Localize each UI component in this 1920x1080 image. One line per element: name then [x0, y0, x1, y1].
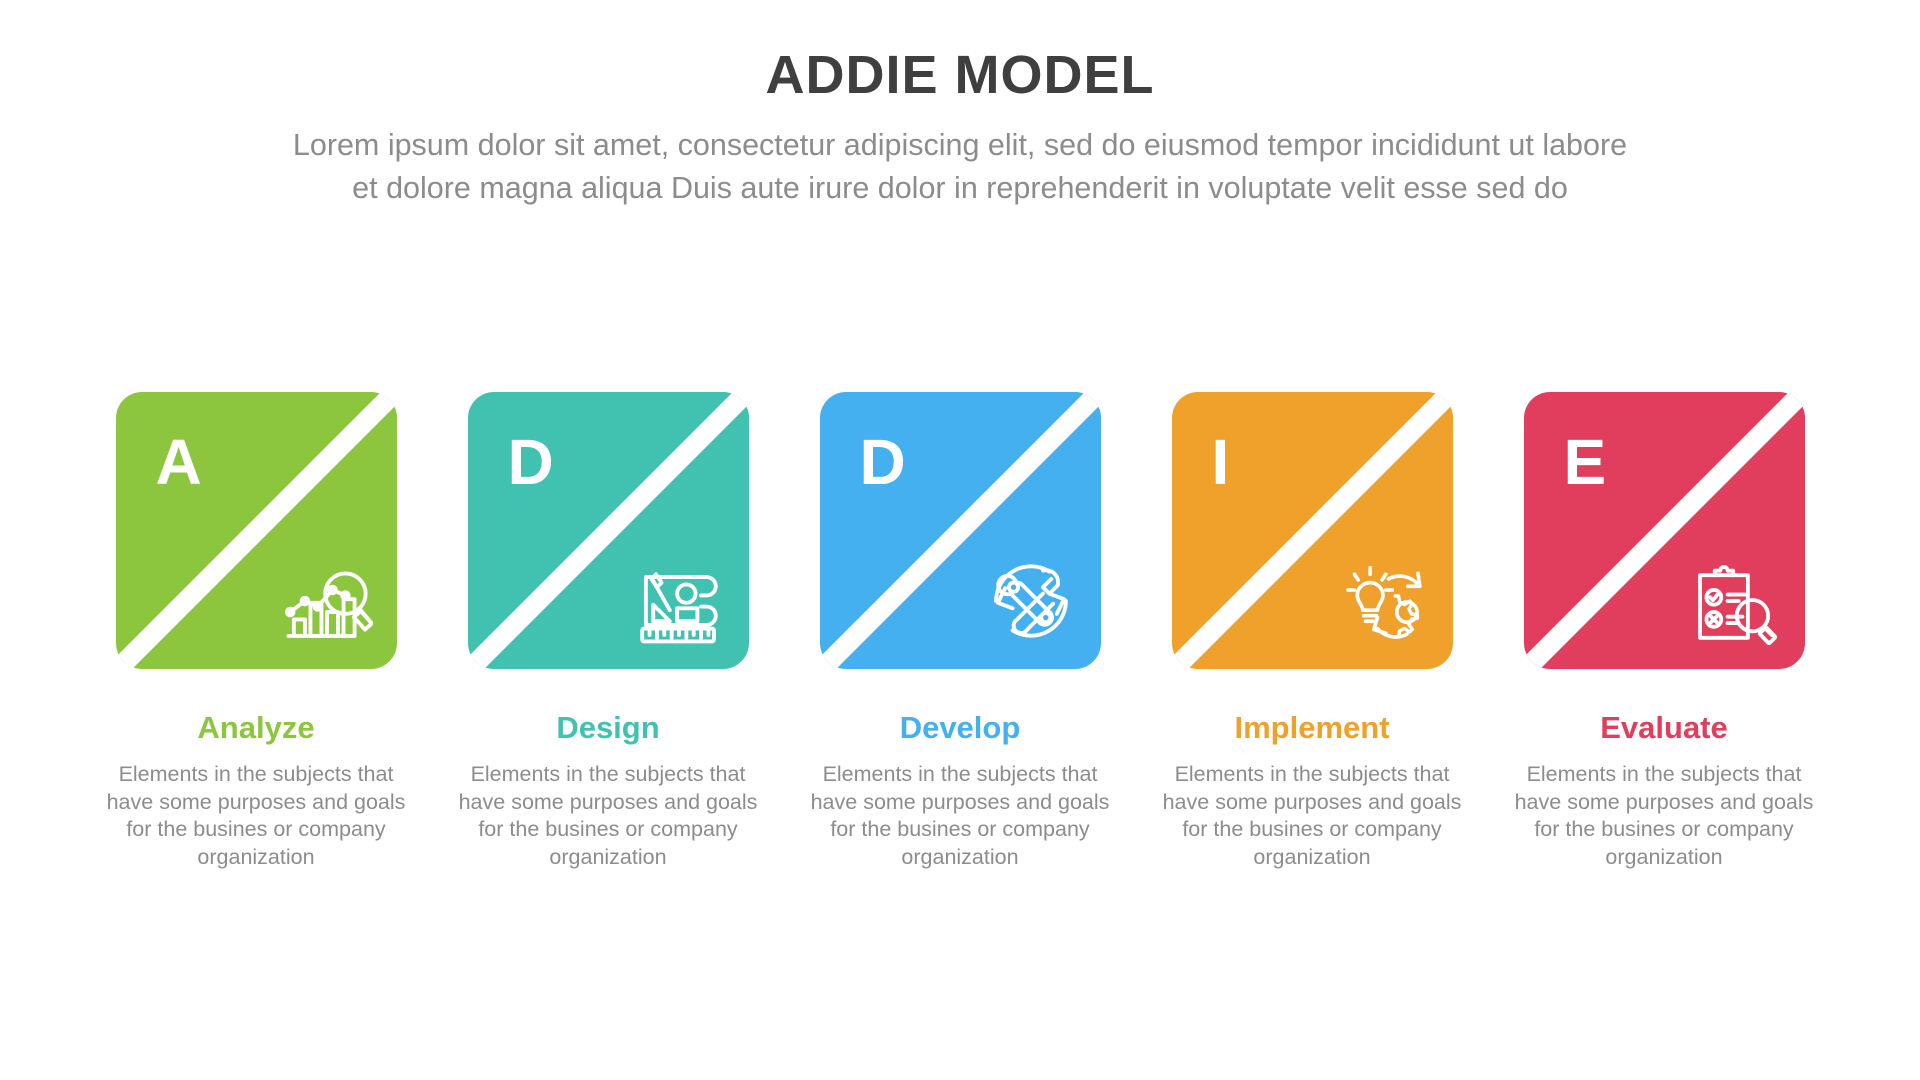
step-letter: D: [508, 430, 554, 494]
subtitle-line-1: Lorem ipsum dolor sit amet, consectetur …: [70, 124, 1850, 167]
page-subtitle: Lorem ipsum dolor sit amet, consectetur …: [70, 124, 1850, 211]
step-letter: A: [156, 430, 202, 494]
step-card-develop[interactable]: D: [820, 392, 1101, 669]
steps-row: A: [80, 392, 1840, 871]
subtitle-line-2: et dolore magna aliqua Duis aute irure d…: [70, 167, 1850, 210]
step-description-analyze: Elements in the subjects that have some …: [106, 761, 406, 871]
step-column-analyze: A: [80, 392, 432, 871]
step-label-develop: Develop: [900, 711, 1021, 745]
bar-chart-magnifier-icon: [281, 555, 373, 647]
clipboard-checklist-magnifier-icon: [1689, 555, 1781, 647]
step-label-design: Design: [556, 711, 659, 745]
step-column-evaluate: E: [1488, 392, 1840, 871]
wrench-screwdriver-cycle-icon: [985, 555, 1077, 647]
step-description-design: Elements in the subjects that have some …: [458, 761, 758, 871]
step-letter: D: [860, 430, 906, 494]
lightbulb-gear-cycle-icon: [1337, 555, 1429, 647]
step-card-design[interactable]: D: [468, 392, 749, 669]
step-card-evaluate[interactable]: E: [1524, 392, 1805, 669]
step-card-analyze[interactable]: A: [116, 392, 397, 669]
step-letter: E: [1564, 430, 1607, 494]
step-letter: I: [1212, 430, 1230, 494]
page-title: ADDIE MODEL: [0, 44, 1920, 106]
step-description-evaluate: Elements in the subjects that have some …: [1514, 761, 1814, 871]
step-label-implement: Implement: [1234, 711, 1389, 745]
step-column-design: D: [432, 392, 784, 871]
step-description-implement: Elements in the subjects that have some …: [1162, 761, 1462, 871]
infographic-page: ADDIE MODEL Lorem ipsum dolor sit amet, …: [0, 0, 1920, 1080]
step-label-evaluate: Evaluate: [1600, 711, 1728, 745]
step-column-implement: I: [1136, 392, 1488, 871]
step-card-implement[interactable]: I: [1172, 392, 1453, 669]
step-description-develop: Elements in the subjects that have some …: [810, 761, 1110, 871]
step-column-develop: D Develop E: [784, 392, 1136, 871]
step-label-analyze: Analyze: [197, 711, 314, 745]
blueprint-ruler-pencil-icon: [633, 555, 725, 647]
header: ADDIE MODEL Lorem ipsum dolor sit amet, …: [0, 0, 1920, 211]
